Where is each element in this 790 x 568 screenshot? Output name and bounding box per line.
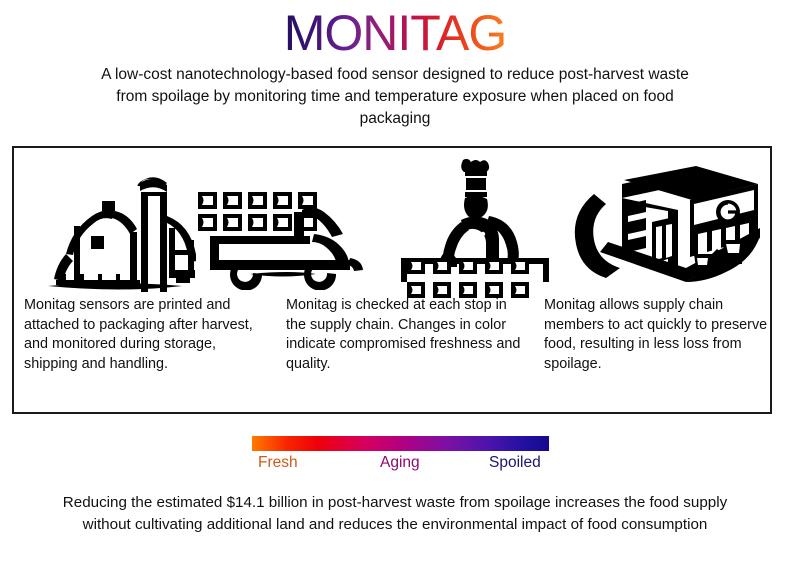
grocery-store-icon (566, 160, 762, 286)
caption-farm: Monitag sensors are printed and attached… (24, 296, 262, 374)
page-subtitle: A low-cost nanotechnology-based food sen… (85, 64, 705, 130)
delivery-truck-icon (190, 186, 376, 290)
caption-transport: Monitag is checked at each stop in the s… (286, 296, 526, 374)
caption-row: Monitag sensors are printed and attached… (14, 296, 770, 412)
farm-barn-silo-icon (36, 170, 196, 292)
footer-statement: Reducing the estimated $14.1 billion in … (62, 492, 728, 535)
header: MONITAG A low-cost nanotechnology-based … (0, 0, 790, 130)
illustration-row (14, 152, 770, 292)
supply-chain-panel: Monitag sensors are printed and attached… (12, 146, 772, 414)
legend-label-fresh: Fresh (258, 453, 298, 473)
freshness-legend: Fresh Aging Spoiled (252, 436, 549, 476)
freshness-legend-labels: Fresh Aging Spoiled (252, 453, 549, 475)
freshness-gradient-bar (252, 436, 549, 451)
legend-label-aging: Aging (380, 453, 420, 473)
legend-label-spoiled: Spoiled (489, 453, 541, 473)
caption-retail: Monitag allows supply chain members to a… (544, 296, 772, 374)
page-title: MONITAG (284, 0, 507, 60)
